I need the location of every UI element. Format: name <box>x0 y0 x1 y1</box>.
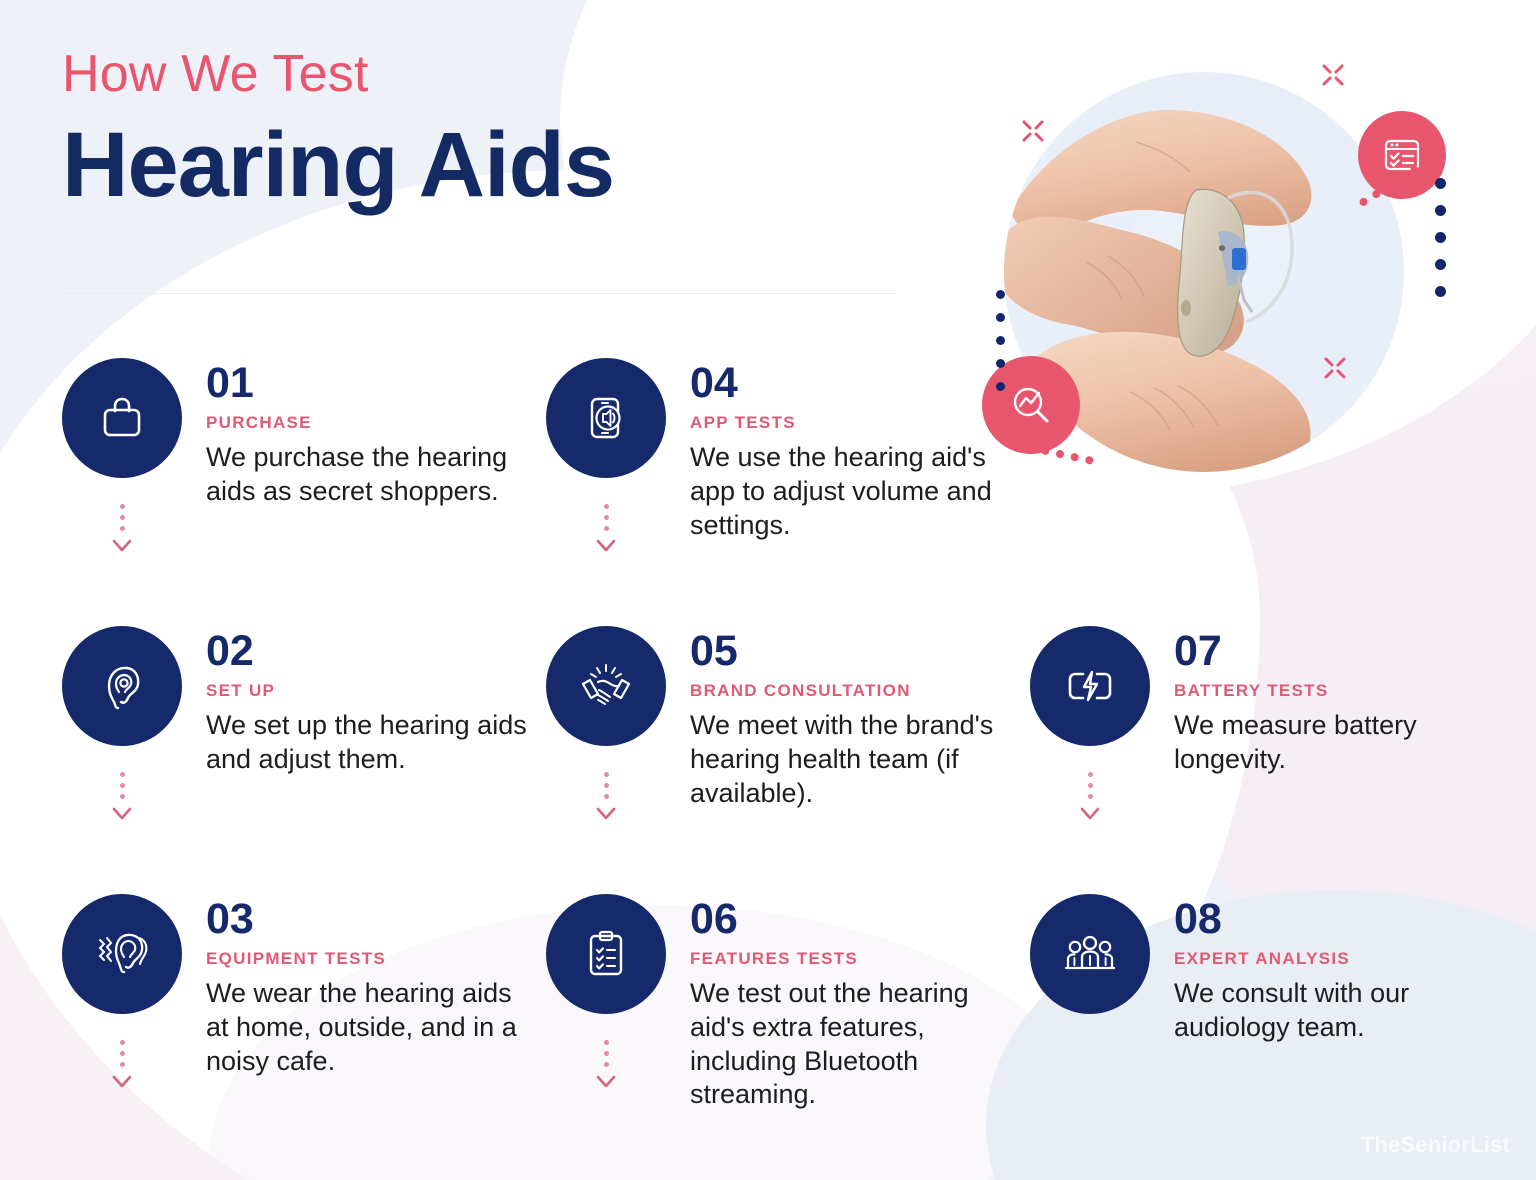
step-05-description: We meet with the brand's hearing health … <box>690 709 1016 810</box>
clipboard-checklist-icon <box>583 928 629 980</box>
step-01-label: PURCHASE <box>206 413 532 433</box>
step-03-icon-circle <box>62 894 182 1014</box>
step-04-description: We use the hearing aid's app to adjust v… <box>690 441 1016 542</box>
step-06-number: 06 <box>690 898 1016 941</box>
step-05-arrow <box>593 772 619 822</box>
phone-volume-icon <box>581 392 631 444</box>
step-07-description: We measure battery longevity. <box>1174 709 1474 777</box>
step-01-arrow <box>109 504 135 554</box>
ear-icon <box>97 661 147 711</box>
page-title: Hearing Aids <box>62 116 962 215</box>
header-divider <box>62 293 897 294</box>
chevron-down-icon <box>1079 806 1101 822</box>
steps-column-3: 07 BATTERY TESTS We measure battery long… <box>1030 358 1500 1162</box>
chevron-down-icon <box>111 538 133 554</box>
people-group-icon <box>1061 932 1119 976</box>
step-06-arrow <box>593 1040 619 1090</box>
step-06: 06 FEATURES TESTS We test out the hearin… <box>546 894 1016 1162</box>
step-02-number: 02 <box>206 630 532 673</box>
step-06-body: 06 FEATURES TESTS We test out the hearin… <box>690 894 1016 1112</box>
chevron-down-icon <box>111 806 133 822</box>
step-03: 03 EQUIPMENT TESTS We wear the hearing a… <box>62 894 532 1162</box>
step-01: 01 PURCHASE We purchase the hearing aids… <box>62 358 532 626</box>
step-07-icon-circle <box>1030 626 1150 746</box>
step-06-icon-circle <box>546 894 666 1014</box>
ear-with-noise-icon <box>91 928 153 980</box>
chevron-down-icon <box>595 1074 617 1090</box>
x-sparkle-icon-left <box>1020 118 1046 144</box>
step-05: 05 BRAND CONSULTATION We meet with the b… <box>546 626 1016 894</box>
step-02-icon-circle <box>62 626 182 746</box>
step-03-description: We wear the hearing aids at home, outsid… <box>206 977 532 1078</box>
step-01-number: 01 <box>206 362 532 405</box>
step-02: 02 SET UP We set up the hearing aids and… <box>62 626 532 894</box>
step-01-body: 01 PURCHASE We purchase the hearing aids… <box>206 358 532 509</box>
step-06-label: FEATURES TESTS <box>690 949 1016 969</box>
step-08-description: We consult with our audiology team. <box>1174 977 1474 1045</box>
step-07-arrow <box>1077 772 1103 822</box>
step-08-label: EXPERT ANALYSIS <box>1174 949 1500 969</box>
steps-column-2: 04 APP TESTS We use the hearing aid's ap… <box>546 358 1016 1162</box>
step-08-body: 08 EXPERT ANALYSIS We consult with our a… <box>1174 894 1500 1045</box>
step-06-description: We test out the hearing aid's extra feat… <box>690 977 1016 1112</box>
step-03-body: 03 EQUIPMENT TESTS We wear the hearing a… <box>206 894 532 1078</box>
step-04-label: APP TESTS <box>690 413 1016 433</box>
step-05-label: BRAND CONSULTATION <box>690 681 1016 701</box>
step-01-description: We purchase the hearing aids as secret s… <box>206 441 532 509</box>
step-04-number: 04 <box>690 362 1016 405</box>
step-07-number: 07 <box>1174 630 1500 673</box>
step-04-icon-circle <box>546 358 666 478</box>
step-03-number: 03 <box>206 898 532 941</box>
step-08-number: 08 <box>1174 898 1500 941</box>
eyebrow-text: How We Test <box>62 48 962 100</box>
step-03-label: EQUIPMENT TESTS <box>206 949 532 969</box>
step-05-number: 05 <box>690 630 1016 673</box>
handshake-icon <box>577 660 635 712</box>
steps-column-1: 01 PURCHASE We purchase the hearing aids… <box>62 358 532 1162</box>
step-02-description: We set up the hearing aids and adjust th… <box>206 709 532 777</box>
step-03-arrow <box>109 1040 135 1090</box>
navy-dot-column-right <box>1435 178 1446 297</box>
step-04-body: 04 APP TESTS We use the hearing aid's ap… <box>690 358 1016 542</box>
step-02-label: SET UP <box>206 681 532 701</box>
checklist-badge <box>1358 111 1446 199</box>
x-sparkle-icon-top <box>1320 62 1346 88</box>
step-02-arrow <box>109 772 135 822</box>
step-05-icon-circle <box>546 626 666 746</box>
step-02-body: 02 SET UP We set up the hearing aids and… <box>206 626 532 777</box>
step-01-icon-circle <box>62 358 182 478</box>
step-04: 04 APP TESTS We use the hearing aid's ap… <box>546 358 1016 626</box>
chevron-down-icon <box>595 538 617 554</box>
chevron-down-icon <box>111 1074 133 1090</box>
infographic-canvas: How We Test Hearing Aids <box>0 0 1536 1180</box>
step-08: 08 EXPERT ANALYSIS We consult with our a… <box>1030 894 1500 1162</box>
battery-charge-icon <box>1063 664 1117 708</box>
step-08-icon-circle <box>1030 894 1150 1014</box>
step-04-arrow <box>593 504 619 554</box>
watermark: TheSeniorList <box>1361 1132 1510 1158</box>
step-07-body: 07 BATTERY TESTS We measure battery long… <box>1174 626 1500 777</box>
shopping-bag-icon <box>96 392 148 444</box>
step-05-body: 05 BRAND CONSULTATION We meet with the b… <box>690 626 1016 810</box>
step-07-label: BATTERY TESTS <box>1174 681 1500 701</box>
chevron-down-icon <box>595 806 617 822</box>
step-07: 07 BATTERY TESTS We measure battery long… <box>1030 626 1500 894</box>
header: How We Test Hearing Aids <box>62 48 962 215</box>
